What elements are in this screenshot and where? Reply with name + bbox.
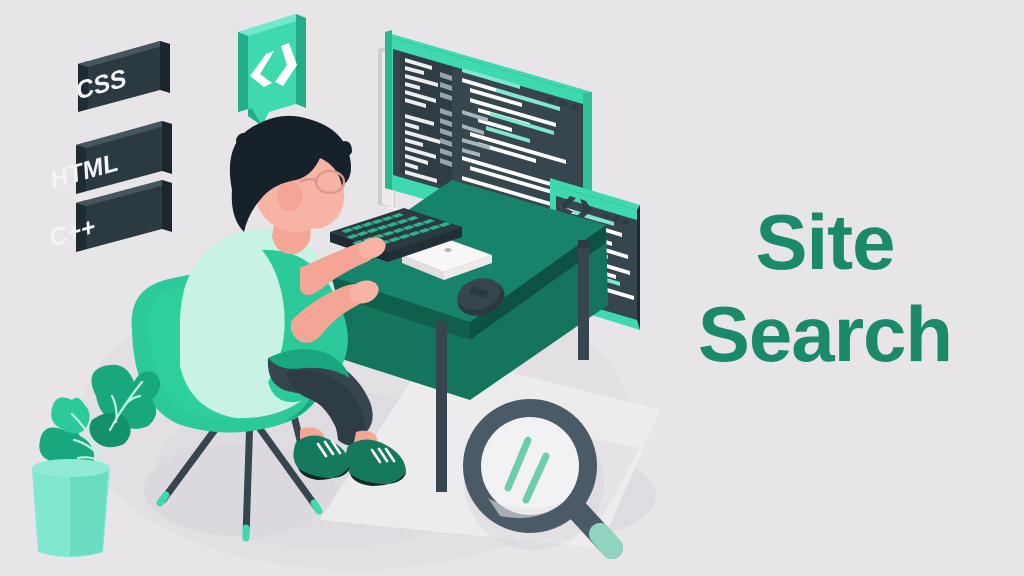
illustration-canvas: CSS HTML C++ xyxy=(0,0,1024,576)
magnifier-handle-tip xyxy=(600,534,612,548)
headline-line-1: Site xyxy=(755,198,894,286)
desk-leg-right xyxy=(578,240,589,360)
headline: Site Search xyxy=(660,196,990,380)
plant-pot xyxy=(30,452,112,558)
headline-line-2: Search xyxy=(660,288,990,380)
figure-ear xyxy=(277,181,303,211)
